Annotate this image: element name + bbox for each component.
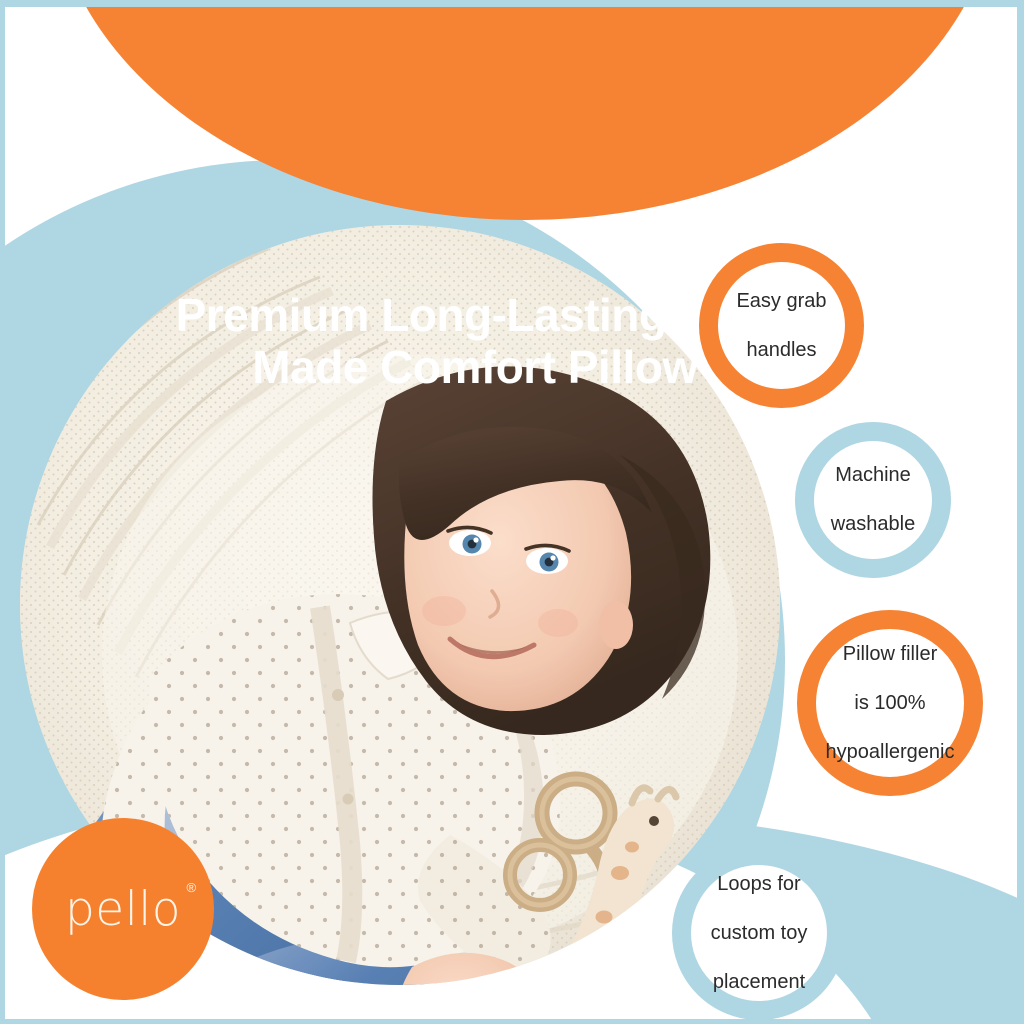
callout-text: Easy grab handles <box>724 289 838 362</box>
callout-line-2: washable <box>825 512 922 536</box>
brand-logo[interactable]: pello ® <box>32 818 214 1000</box>
callout-line-1: Easy grab <box>730 289 832 313</box>
feature-callout-easy-grab-handles[interactable]: Easy grab handles <box>699 243 864 408</box>
callout-line-2: is 100% <box>820 691 961 715</box>
logo-wordmark: pello <box>65 882 181 937</box>
feature-callout-hypoallergenic[interactable]: Pillow filler is 100% hypoallergenic <box>797 610 983 796</box>
border-right <box>1017 0 1024 1024</box>
callout-text: Loops for custom toy placement <box>699 872 820 994</box>
callout-text: Pillow filler is 100% hypoallergenic <box>814 642 967 764</box>
feature-callout-machine-washable[interactable]: Machine washable <box>795 422 951 578</box>
callout-line-2: handles <box>730 338 832 362</box>
callout-line-3: hypoallergenic <box>820 740 961 764</box>
callout-line-1: Machine <box>825 463 922 487</box>
feature-callout-toy-loops[interactable]: Loops for custom toy placement <box>672 846 846 1020</box>
registered-trademark-icon: ® <box>186 880 196 895</box>
callout-line-3: placement <box>705 970 814 994</box>
infographic-canvas: Premium Long-Lasting USA Made Comfort Pi… <box>0 0 1024 1024</box>
callout-line-1: Loops for <box>705 872 814 896</box>
callout-text: Machine washable <box>819 463 928 536</box>
logo-wordmark-wrap: pello ® <box>65 882 181 937</box>
callout-line-2: custom toy <box>705 921 814 945</box>
callout-line-1: Pillow filler <box>820 642 961 666</box>
